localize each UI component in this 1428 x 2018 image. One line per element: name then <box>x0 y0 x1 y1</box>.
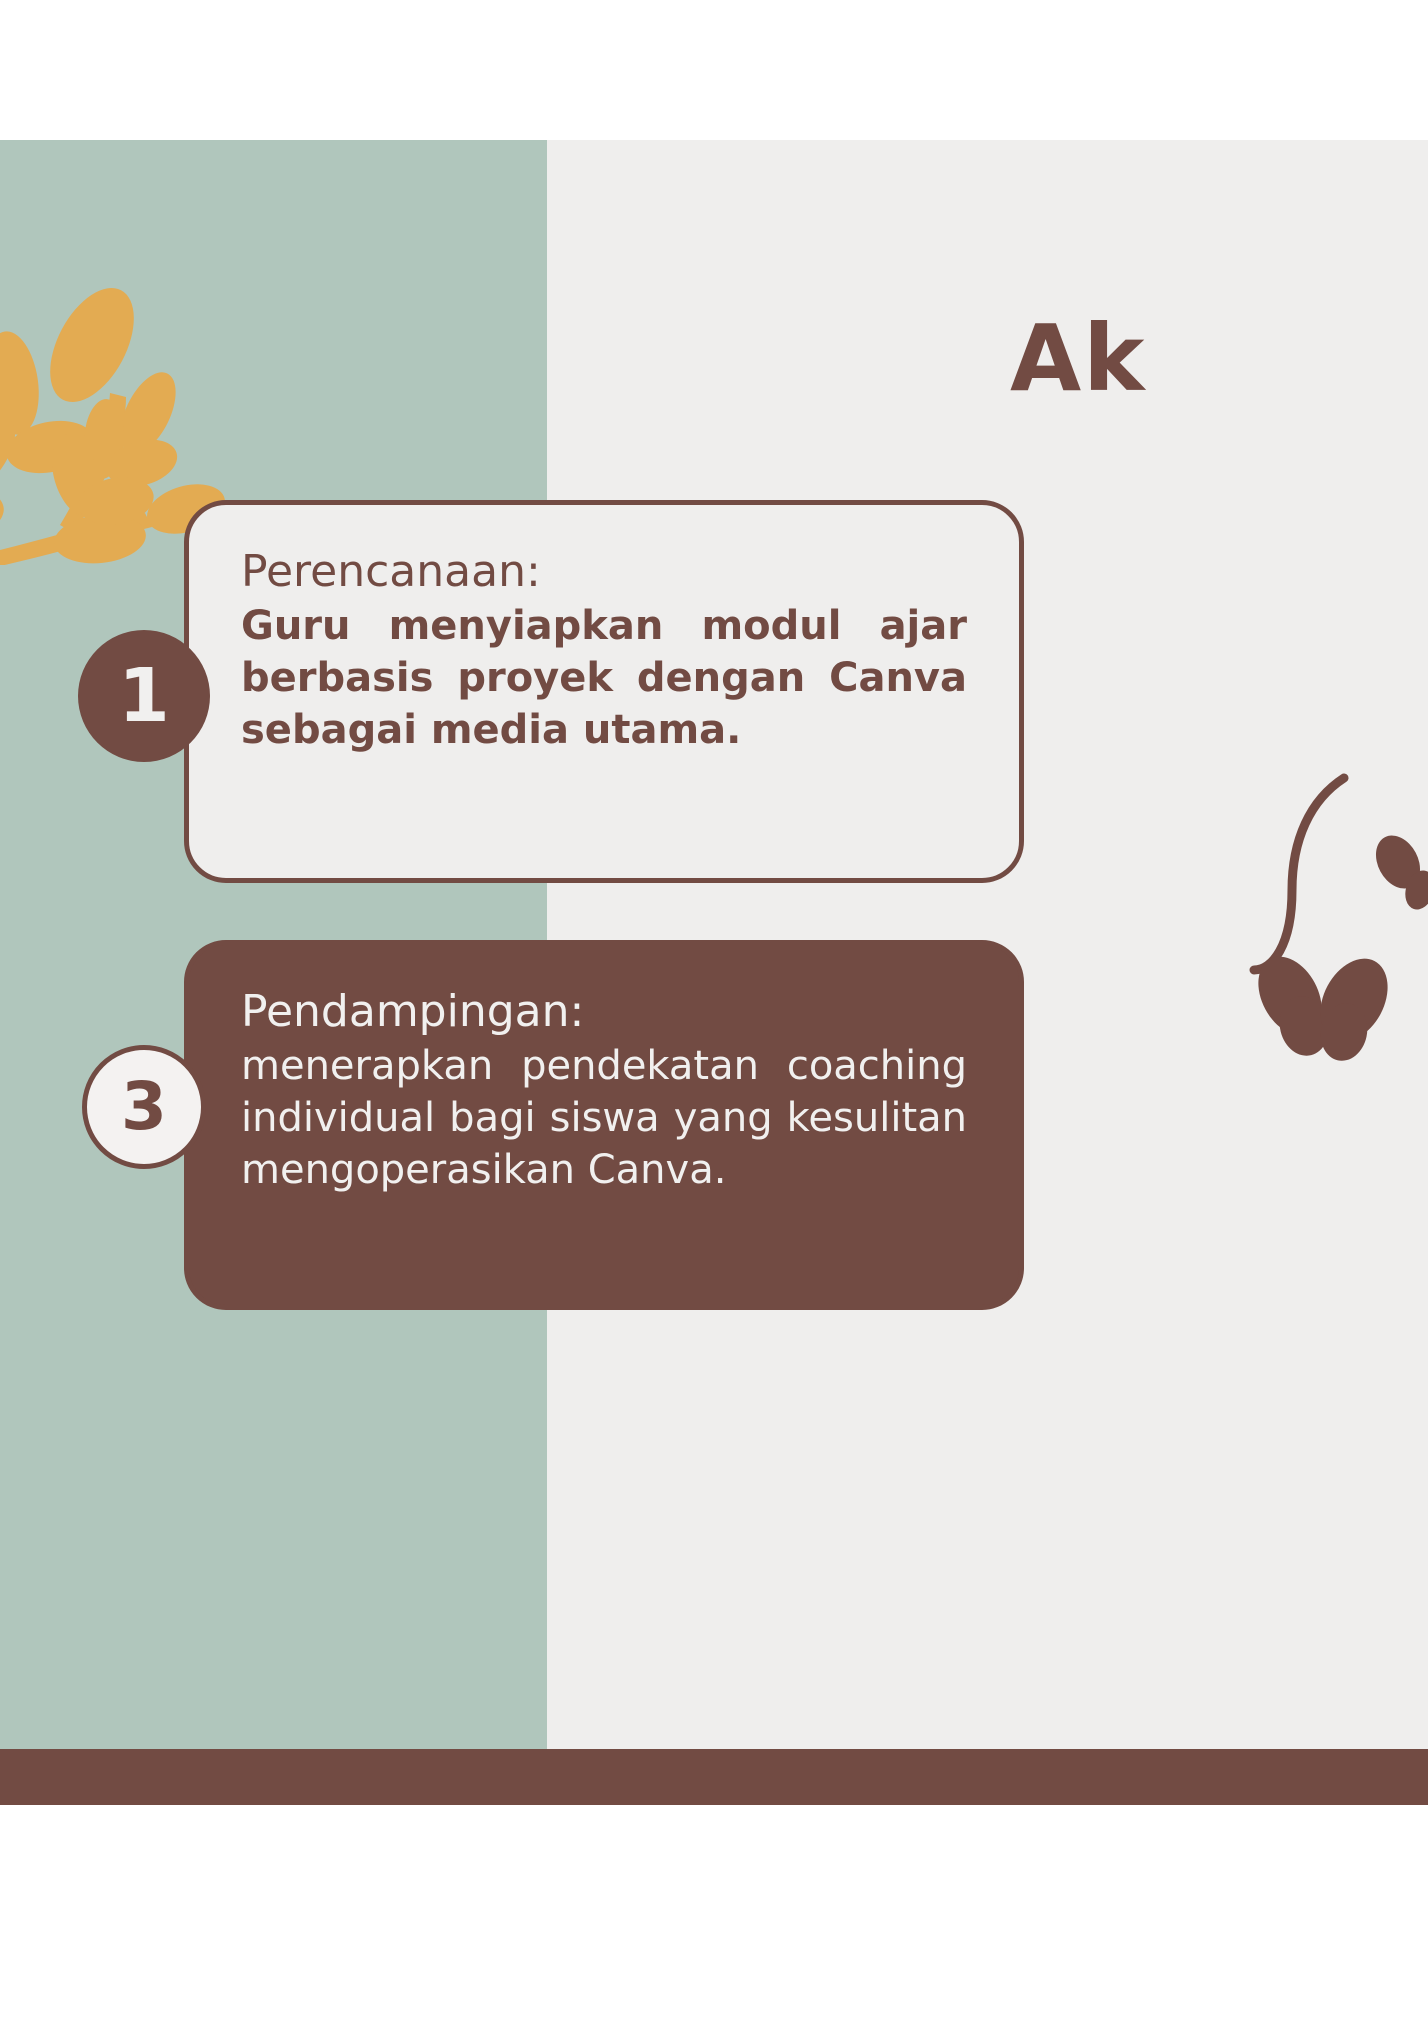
step-badge-1: 1 <box>78 630 210 762</box>
step-card-1: Perencanaan: Guru menyiapkan modul ajar … <box>184 500 1024 883</box>
step-card-1-title: Perencanaan: <box>241 547 967 596</box>
step-card-3: Pendampingan: menerapkan pendekatan coac… <box>184 940 1024 1310</box>
step-card-1-content: Perencanaan: Guru menyiapkan modul ajar … <box>189 505 1019 756</box>
step-card-3-body: menerapkan pendekatan coaching individua… <box>241 1040 967 1196</box>
slide-frame: Ak Perencanaan: Guru menyiapkan modul aj… <box>0 140 1428 1805</box>
step-card-3-title: Pendampingan: <box>241 987 967 1036</box>
page-title: Ak <box>1010 305 1146 412</box>
butterfly-decoration <box>1248 770 1428 1070</box>
step-card-1-body: Guru menyiapkan modul ajar berbasis proy… <box>241 600 967 756</box>
slide-canvas: Ak Perencanaan: Guru menyiapkan modul aj… <box>0 0 1428 2018</box>
step-card-3-content: Pendampingan: menerapkan pendekatan coac… <box>189 945 1019 1196</box>
step-badge-3: 3 <box>82 1045 206 1169</box>
bottom-accent-bar <box>0 1749 1428 1805</box>
